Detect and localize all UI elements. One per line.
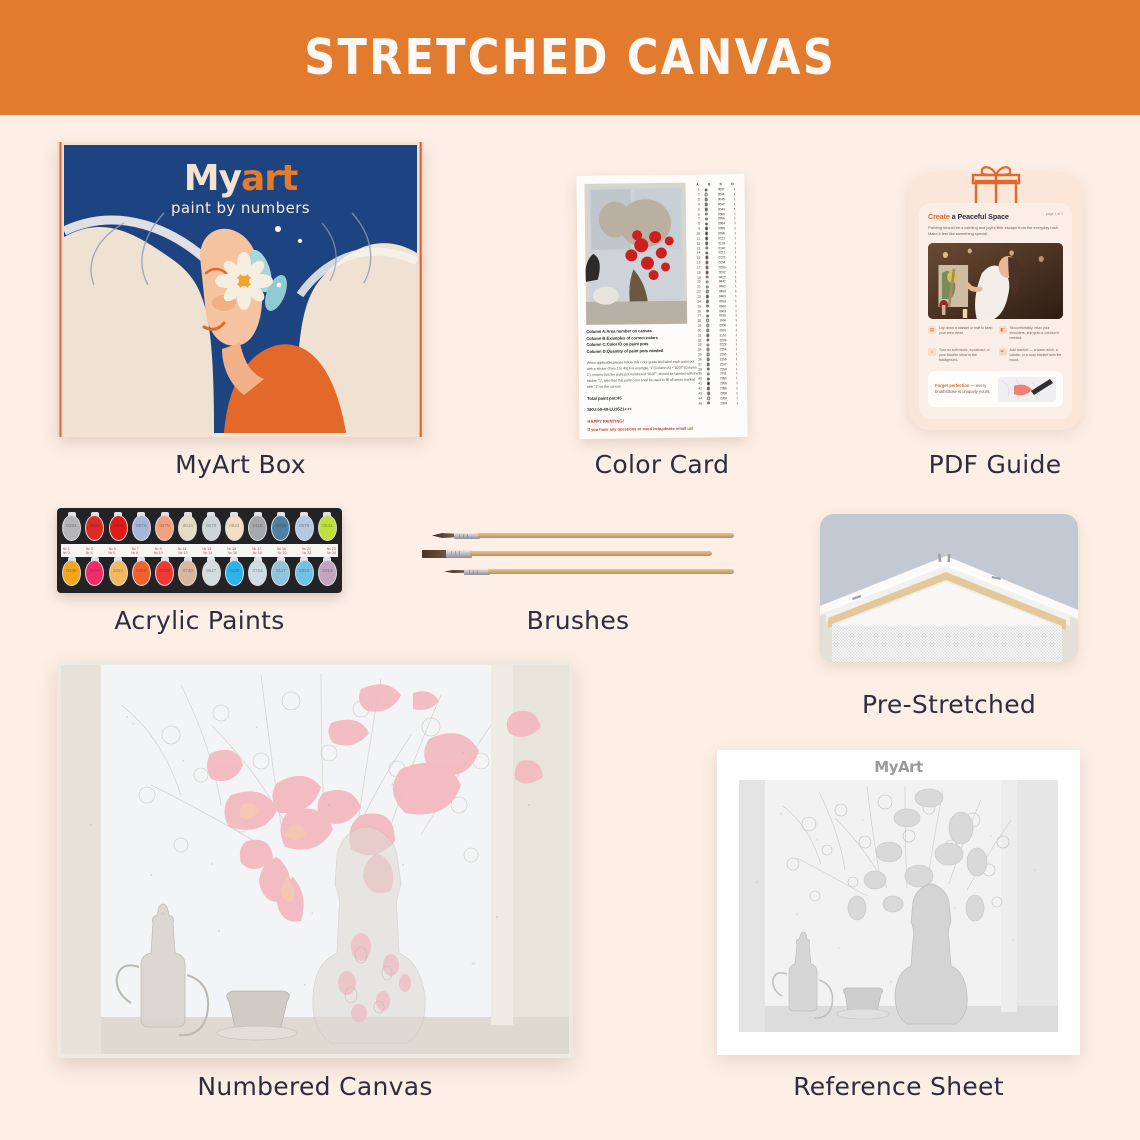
col-b-header: B xyxy=(704,182,714,186)
color-swatch xyxy=(707,382,711,386)
row-quantity: 1 xyxy=(733,309,739,313)
color-card-rows: 1003712004413004514004715004916005017005… xyxy=(692,187,742,406)
color-swatch xyxy=(706,362,710,366)
box-front-panel: Myart paint by numbers xyxy=(64,145,417,433)
color-swatch xyxy=(704,193,708,197)
color-swatch xyxy=(707,372,711,376)
row-color-id: 0442 xyxy=(714,280,731,284)
row-quantity: 1 xyxy=(734,347,740,351)
paint-pot-id: 0542 xyxy=(317,523,338,528)
row-swatch-cell xyxy=(703,328,712,332)
row-color-id: 2358 xyxy=(715,381,732,385)
row-swatch-cell xyxy=(704,401,713,405)
row-quantity: 1 xyxy=(734,357,740,361)
row-quantity: 1 xyxy=(733,313,739,317)
row-quantity: 1 xyxy=(733,270,739,274)
row-color-id: 0084 xyxy=(713,221,730,225)
row-area: 28 xyxy=(694,319,701,323)
row-color-id: 0140 xyxy=(713,246,730,250)
paint-pot: 0809 xyxy=(108,513,129,543)
color-swatch xyxy=(705,275,709,279)
paint-pot-body xyxy=(225,515,244,541)
row-quantity: 1 xyxy=(732,212,738,216)
paint-label-strip: № 1№ 3№ 5№ 7№ 9№ 11№ 13№ 15№ 17№ 19№ 21№… xyxy=(61,544,338,557)
row-color-id: 0096 xyxy=(713,231,730,235)
paint-pot-label: № 22 xyxy=(302,551,311,555)
row-quantity: 1 xyxy=(734,381,740,385)
product-acrylic-paints: 0392083308090076047506140570062401190818… xyxy=(57,508,342,593)
row-color-id: 2257 xyxy=(715,362,732,366)
round-brush xyxy=(432,531,734,540)
color-swatch xyxy=(706,309,710,313)
row-swatch-cell xyxy=(702,232,711,236)
row-quantity: 1 xyxy=(732,207,738,211)
color-swatch xyxy=(706,353,710,357)
paint-pot-label: № 4 xyxy=(86,551,93,555)
row-color-id: 2359 xyxy=(715,396,732,400)
row-quantity: 1 xyxy=(732,187,738,191)
pdf-tip: ◧Sit comfortably, relax your shoulders, … xyxy=(999,326,1064,342)
row-area: 9 xyxy=(693,227,700,231)
legend-line: Column D:Quantity of paint pots needed xyxy=(587,347,699,355)
color-swatch xyxy=(706,348,710,352)
canvas-corner-illustration xyxy=(820,514,1078,662)
row-color-id: 2151 xyxy=(714,333,731,337)
paint-pot-body xyxy=(62,515,81,541)
pdf-guide-page: page 1 of 1 Create a Peaceful Space Pain… xyxy=(919,203,1072,419)
legend-happy: HAPPY PAINTING! xyxy=(587,418,699,426)
reference-sheet-paper: MyArt xyxy=(717,750,1080,1055)
paint-pot-label: № 20 xyxy=(278,551,287,555)
row-quantity: 1 xyxy=(733,299,739,303)
row-color-id: 0045 xyxy=(713,197,730,201)
pdf-tip: ▤Lay down a blanket or mat to keep your … xyxy=(928,326,993,342)
legend-total: Total paint pot:45 xyxy=(587,394,699,402)
pdf-tip-text: Turn on soft music, a podcast, or your f… xyxy=(939,348,993,364)
row-quantity: 1 xyxy=(733,318,739,322)
color-swatch xyxy=(705,251,709,255)
row-color-id: 2259 xyxy=(715,367,732,371)
paint-pot-body xyxy=(155,515,174,541)
round-brush-ferrule xyxy=(454,533,480,539)
row-color-id: 0050 xyxy=(713,212,730,216)
color-swatch xyxy=(705,227,709,231)
caption-color-card: Color Card xyxy=(478,450,846,479)
row-color-id: 0047 xyxy=(713,202,730,206)
row-quantity: 1 xyxy=(733,338,739,342)
row-swatch-cell xyxy=(704,391,713,395)
paint-pot-label: № 18 xyxy=(253,551,262,555)
paint-pot-body xyxy=(248,560,267,586)
woman-painting-photo xyxy=(928,243,1063,319)
row-color-id: 2356 xyxy=(715,376,732,380)
paint-pot-id: 2018 xyxy=(317,568,338,573)
paint-pot-body xyxy=(248,515,267,541)
box-logo-art: art xyxy=(241,158,297,199)
paint-pot-id: 0818 xyxy=(270,523,291,528)
row-swatch-cell xyxy=(703,266,712,270)
paint-pot-body xyxy=(271,560,290,586)
detail-brush xyxy=(444,567,734,576)
row-quantity: 1 xyxy=(732,197,738,201)
pdf-tip-text: Lay down a blanket or mat to keep your a… xyxy=(939,326,993,342)
paint-pot: 0570 xyxy=(201,513,222,543)
row-swatch-cell xyxy=(702,222,711,226)
paint-pot-id: 0833 xyxy=(84,523,105,528)
row-swatch-cell xyxy=(703,338,712,342)
pdf-page-label: page 1 of 1 xyxy=(1046,212,1063,216)
paint-pot-label: № 8 xyxy=(131,551,138,555)
color-swatch xyxy=(704,203,708,207)
page-header: STRETCHED CANVAS xyxy=(0,0,1140,115)
paint-pot-id: 0740 xyxy=(177,568,198,573)
paint-pot-body xyxy=(109,515,128,541)
poppy-still-life-thumb xyxy=(584,183,687,325)
row-area: 21 xyxy=(694,285,701,289)
row-area: 7 xyxy=(693,217,700,221)
music-icon: ♪ xyxy=(928,348,936,356)
color-swatch xyxy=(705,285,709,289)
color-card-photo xyxy=(584,183,687,325)
paint-pot-body xyxy=(178,515,197,541)
row-swatch-cell xyxy=(704,382,713,386)
row-quantity: 1 xyxy=(732,231,738,235)
row-swatch-cell xyxy=(704,372,713,376)
row-swatch-cell xyxy=(703,324,712,328)
color-swatch xyxy=(705,256,709,260)
caption-acrylic-paints: Acrylic Paints xyxy=(57,606,342,635)
legend-instructions: When applicable,please follow this color… xyxy=(587,358,699,390)
row-quantity: 1 xyxy=(734,352,740,356)
row-color-id: 2256 xyxy=(715,352,732,356)
paint-pot-id: 0076 xyxy=(131,523,152,528)
row-quantity: 1 xyxy=(732,246,738,250)
row-area: 2 xyxy=(693,193,700,197)
caption-reference-sheet: Reference Sheet xyxy=(717,1072,1080,1101)
paint-pot-body xyxy=(155,560,174,586)
product-pre-stretched xyxy=(820,514,1078,662)
caption-pdf-guide: PDF Guide xyxy=(880,450,1110,479)
detail-brush-ferrule xyxy=(464,569,490,575)
row-color-id: 1666 xyxy=(714,318,731,322)
row-color-id: 2229 xyxy=(714,343,731,347)
paint-pot: 2117 xyxy=(270,558,291,588)
row-color-id: 0915 xyxy=(714,314,731,318)
detail-brush-tip xyxy=(444,570,466,573)
color-swatch xyxy=(705,266,709,270)
color-swatch xyxy=(706,338,710,342)
row-quantity: 1 xyxy=(733,304,739,308)
paint-pot-id: 0270 xyxy=(84,568,105,573)
paint-pot-label: № 6 xyxy=(108,551,115,555)
paint-pot: 0392 xyxy=(61,513,82,543)
paint-pot: 0647 xyxy=(201,558,222,588)
paint-pot-body xyxy=(318,515,337,541)
row-color-id: 0660 xyxy=(714,304,731,308)
pdf-tip-text: Add comfort — a warm drink, a candle, or… xyxy=(1010,348,1064,364)
product-pdf-guide: page 1 of 1 Create a Peaceful Space Pain… xyxy=(908,172,1083,430)
color-swatch xyxy=(705,217,709,221)
row-color-id: 2359 xyxy=(715,401,732,405)
legend-sku: SKU:50-40-LU3521+++ xyxy=(587,406,699,414)
row-swatch-cell xyxy=(703,299,712,303)
row-swatch-cell xyxy=(702,203,711,207)
row-quantity: 1 xyxy=(733,342,739,346)
paint-pot: 0614 xyxy=(177,513,198,543)
row-quantity: 1 xyxy=(732,241,738,245)
paint-pot-id: 2129 xyxy=(224,568,245,573)
paint-pot-id: 0148 xyxy=(61,568,82,573)
paint-pot-id: 0614 xyxy=(177,523,198,528)
paint-pot: 0466 xyxy=(131,558,152,588)
box-right-edge xyxy=(417,142,424,437)
row-swatch-cell xyxy=(702,207,711,211)
paint-pot-body xyxy=(225,560,244,586)
row-area: 23 xyxy=(694,295,701,299)
row-color-id: 0222 xyxy=(713,255,730,259)
round-brush-tip xyxy=(432,533,456,538)
color-swatch xyxy=(706,358,710,362)
pdf-tip: ♪Turn on soft music, a podcast, or your … xyxy=(928,348,993,364)
row-area: 11 xyxy=(693,236,700,240)
paint-pot-id: 0466 xyxy=(131,568,152,573)
row-color-id: 2356 xyxy=(715,386,732,390)
row-area: 22 xyxy=(694,290,701,294)
pdf-tip-text: Sit comfortably, relax your shoulders, a… xyxy=(1010,326,1064,342)
paint-pot: 2021 xyxy=(108,558,129,588)
paint-pot-id: 0570 xyxy=(201,523,222,528)
row-color-id: 2358 xyxy=(715,391,732,395)
row-swatch-cell xyxy=(703,314,712,318)
pdf-callout-thumb xyxy=(998,377,1056,402)
row-color-id: 2311 xyxy=(715,372,732,376)
row-quantity: 1 xyxy=(733,275,739,279)
paint-pot-id: 2024 xyxy=(294,568,315,573)
col-a-header: A xyxy=(692,182,702,186)
row-swatch-cell xyxy=(702,188,711,192)
row-area: 15 xyxy=(693,256,700,260)
row-area: 14 xyxy=(693,251,700,255)
paint-pot-body xyxy=(295,560,314,586)
row-swatch-cell xyxy=(702,212,711,216)
color-swatch xyxy=(707,377,711,381)
color-card-legend: Column A:Area number on canvas Column B:… xyxy=(586,328,699,433)
row-quantity: 1 xyxy=(732,255,738,259)
row-swatch-cell xyxy=(702,246,711,250)
color-swatch xyxy=(706,295,710,299)
row-quantity: 1 xyxy=(734,376,740,380)
row-color-id: 0254 xyxy=(713,260,730,264)
color-swatch xyxy=(704,188,708,192)
row-area: 24 xyxy=(694,299,701,303)
paint-pot-body xyxy=(202,515,221,541)
color-swatch xyxy=(706,324,710,328)
paint-pot: 0475 xyxy=(154,513,175,543)
row-quantity: 1 xyxy=(733,328,739,332)
row-quantity: 1 xyxy=(733,284,739,288)
box-logo-my: My xyxy=(184,158,241,199)
pdf-hero-photo xyxy=(928,243,1063,319)
pdf-callout: Forget perfection — every brushstroke is… xyxy=(928,371,1063,407)
row-area: 5 xyxy=(693,207,700,211)
paint-pot: 0148 xyxy=(61,558,82,588)
paint-pot-id: 2117 xyxy=(270,568,291,573)
row-quantity: 1 xyxy=(732,217,738,221)
row-swatch-cell xyxy=(702,236,711,240)
row-color-id: 0049 xyxy=(713,207,730,211)
paint-pot-id: 0809 xyxy=(108,523,129,528)
paint-pot: 0270 xyxy=(84,558,105,588)
row-area: 4 xyxy=(693,202,700,206)
paint-pot-id: 0158 xyxy=(154,568,175,573)
row-swatch-cell xyxy=(702,261,711,265)
paint-pot: 0833 xyxy=(84,513,105,543)
row-swatch-cell xyxy=(703,290,712,294)
row-quantity: 1 xyxy=(733,294,739,298)
row-quantity: 1 xyxy=(732,226,738,230)
paint-pot: 2129 xyxy=(224,558,245,588)
paint-pot: 2018 xyxy=(317,558,338,588)
product-numbered-canvas: 1293 71521 xyxy=(57,661,573,1058)
flat-brush-ferrule xyxy=(446,550,472,558)
box-subtitle: paint by numbers xyxy=(64,199,417,217)
drink-icon: ☕ xyxy=(999,348,1007,356)
row-swatch-cell xyxy=(703,270,712,274)
color-swatch xyxy=(705,236,709,240)
row-quantity: 1 xyxy=(732,236,738,240)
col-d-header: D xyxy=(727,182,737,186)
color-swatch xyxy=(705,270,709,274)
row-area: 20 xyxy=(694,280,701,284)
row-color-id: 0095 xyxy=(713,226,730,230)
row-color-id: 0469 xyxy=(714,294,731,298)
row-area: 16 xyxy=(693,261,700,265)
row-color-id: 0463 xyxy=(714,289,731,293)
color-swatch xyxy=(704,207,708,211)
row-quantity: 1 xyxy=(732,202,738,206)
row-quantity: 1 xyxy=(734,401,740,405)
reference-sheet-artwork xyxy=(739,780,1058,1032)
row-area: 17 xyxy=(694,265,701,269)
paint-pot-body xyxy=(85,515,104,541)
cushion-icon: ◧ xyxy=(999,326,1007,334)
row-quantity: 1 xyxy=(732,260,738,264)
page-title: STRETCHED CANVAS xyxy=(304,29,836,86)
row-area: 27 xyxy=(694,314,701,318)
row-color-id: 2000 xyxy=(714,323,731,327)
paint-pot-row-bottom: 0148027020210466015807400647212907642117… xyxy=(61,558,338,588)
paint-pot: 0764 xyxy=(247,558,268,588)
row-swatch-cell xyxy=(703,275,712,279)
paint-pot-row-top: 0392083308090076047506140570062401190818… xyxy=(61,513,338,543)
row-quantity: 1 xyxy=(734,396,740,400)
paint-pot-label: № 24 xyxy=(327,551,336,555)
pdf-callout-bold: Forget perfection xyxy=(935,383,969,388)
row-swatch-cell xyxy=(704,362,713,366)
color-card-row: 4523591 xyxy=(694,400,741,405)
paint-pot-body xyxy=(62,560,81,586)
product-myart-box: Myart paint by numbers xyxy=(57,142,424,437)
row-quantity: 1 xyxy=(734,362,740,366)
paint-pot-id: 0475 xyxy=(154,523,175,528)
paint-pot-id: 2021 xyxy=(108,568,129,573)
paint-pot: 2024 xyxy=(294,558,315,588)
paint-pot-body xyxy=(295,515,314,541)
napkin-icon: ▤ xyxy=(928,326,936,334)
paint-pot: 0879 xyxy=(294,513,315,543)
paint-pot-id: 0119 xyxy=(247,523,268,528)
color-swatch xyxy=(707,387,711,391)
paint-pot-id: 0647 xyxy=(201,568,222,573)
flat-brush xyxy=(422,549,712,558)
box-left-edge xyxy=(57,142,64,437)
row-swatch-cell xyxy=(703,280,712,284)
color-swatch xyxy=(707,401,711,405)
row-quantity: 1 xyxy=(733,289,739,293)
product-brushes xyxy=(422,523,734,593)
row-quantity: 1 xyxy=(733,323,739,327)
caption-myart-box: MyArt Box xyxy=(57,450,424,479)
row-color-id: 0262 xyxy=(714,270,731,274)
color-swatch xyxy=(706,314,710,318)
color-card-paper: A B C D 10037120044130045140047150049160… xyxy=(576,174,747,439)
row-swatch-cell xyxy=(703,333,712,337)
paint-pot-id: 0392 xyxy=(61,523,82,528)
paint-pot-label: № 14 xyxy=(203,551,212,555)
row-quantity: 1 xyxy=(734,391,740,395)
color-swatch xyxy=(706,343,710,347)
paint-pot: 0818 xyxy=(270,513,291,543)
pdf-heading: Create a Peaceful Space xyxy=(928,212,1063,221)
row-color-id: 0212 xyxy=(713,251,730,255)
color-swatch xyxy=(705,232,709,236)
caption-brushes: Brushes xyxy=(422,606,734,635)
row-area: 8 xyxy=(693,222,700,226)
paint-pot: 0740 xyxy=(177,558,198,588)
product-reference-sheet: MyArt xyxy=(717,750,1080,1055)
pdf-heading-rest: a Peaceful Space xyxy=(950,212,1009,221)
row-area: 26 xyxy=(694,309,701,313)
paint-pot: 0158 xyxy=(154,558,175,588)
row-area: 6 xyxy=(693,212,700,216)
paint-pot-body xyxy=(85,560,104,586)
row-color-id: 2001 xyxy=(714,328,731,332)
paint-tray: 0392083308090076047506140570062401190818… xyxy=(57,508,342,593)
row-quantity: 1 xyxy=(734,372,740,376)
color-swatch xyxy=(705,261,709,265)
paint-pot-id: 0879 xyxy=(294,523,315,528)
color-swatch xyxy=(706,333,710,337)
color-swatch xyxy=(706,367,710,371)
paint-pot-label: № 2 xyxy=(63,551,70,555)
color-swatch xyxy=(706,304,710,308)
row-color-id: 0462 xyxy=(714,284,731,288)
row-swatch-cell xyxy=(702,193,711,197)
paint-pot: 0624 xyxy=(224,513,245,543)
row-swatch-cell xyxy=(703,304,712,308)
numbered-canvas-artwork: 1293 71521 xyxy=(61,665,569,1054)
paint-pot-body xyxy=(271,515,290,541)
color-swatch xyxy=(706,299,710,303)
flat-brush-tip xyxy=(422,550,448,558)
row-swatch-cell xyxy=(702,241,711,245)
paint-pot-body xyxy=(202,560,221,586)
row-swatch-cell xyxy=(704,377,713,381)
row-color-id: 0044 xyxy=(713,192,730,196)
color-card-table: A B C D 10037120044130045140047150049160… xyxy=(691,182,741,411)
row-swatch-cell xyxy=(704,367,713,371)
row-color-id: 0669 xyxy=(714,309,731,313)
